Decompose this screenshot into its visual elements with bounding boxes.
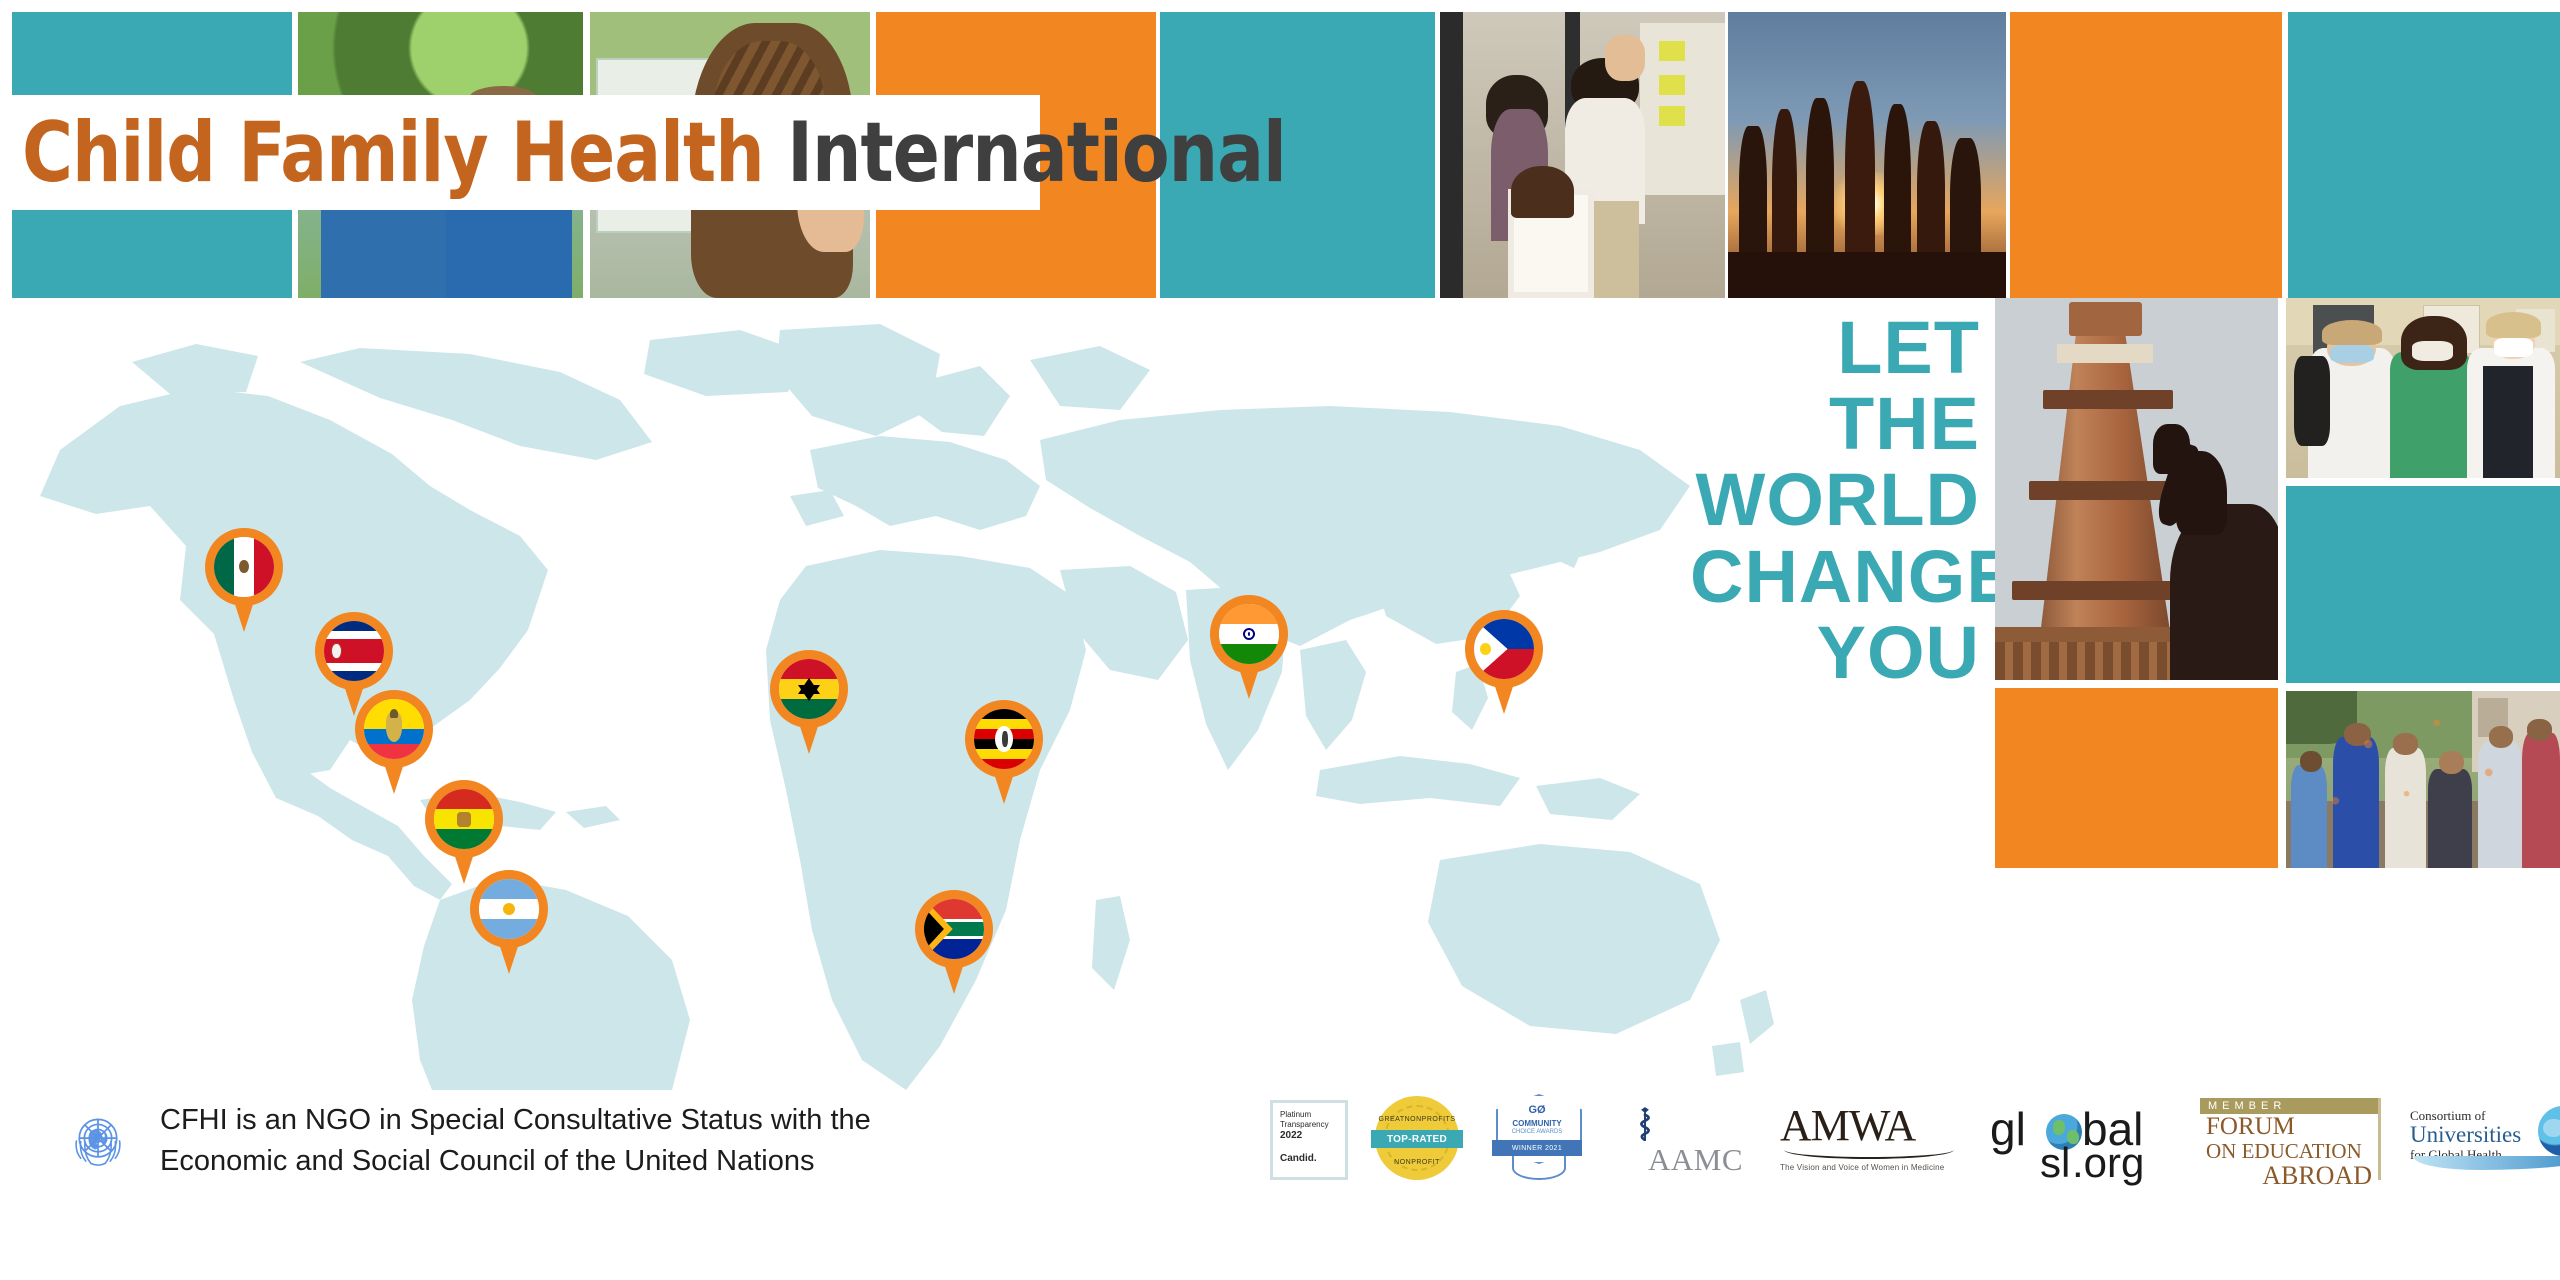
tagline-line-2: THE <box>1690 386 1980 462</box>
amwa-logo[interactable]: AMWA The Vision and Voice of Women in Me… <box>1780 1104 1958 1176</box>
consortium-universities-global-health-logo[interactable]: Consortium of Universities for Global He… <box>2410 1104 2560 1176</box>
photo-group-celebration-petals <box>2286 691 2560 868</box>
costa-rica-flag-icon <box>324 621 384 681</box>
tagline: LET THE WORLD CHANGE YOU <box>1690 310 1980 691</box>
map-pin-south-africa[interactable] <box>915 890 993 994</box>
globalsl-org-logo[interactable]: gl bal sl .org <box>1990 1100 2150 1182</box>
greatnonprofits-ribbon: TOP-RATED <box>1371 1130 1463 1148</box>
footer: CFHI is an NGO in Special Consultative S… <box>0 1090 2560 1280</box>
map-pin-india[interactable] <box>1210 595 1288 699</box>
forum-member-band: MEMBER <box>2200 1098 2378 1114</box>
aamc-logo[interactable]: AAMC <box>1618 1098 1746 1178</box>
header-photo-classroom-lecture <box>1440 12 1725 298</box>
candid-line-4: Candid. <box>1280 1153 1339 1166</box>
south-africa-flag-icon <box>924 899 984 959</box>
map-pin-argentina[interactable] <box>470 870 548 974</box>
map-pin-bolivia[interactable] <box>425 780 503 884</box>
ghana-flag-icon <box>779 659 839 719</box>
go-line-1: COMMUNITY <box>1512 1119 1561 1128</box>
right-orange-block <box>1995 688 2278 868</box>
un-status-line-2: Economic and Social Council of the Unite… <box>160 1141 871 1182</box>
candid-line-3: 2022 <box>1280 1130 1339 1143</box>
header-photo-strip: Child Family Health International <box>0 0 2560 298</box>
header-photo-sunset-hands <box>1728 12 2006 298</box>
map-pin-mexico[interactable] <box>205 528 283 632</box>
cugh-globe-icon <box>2538 1106 2560 1156</box>
aamc-text: AAMC <box>1648 1142 1743 1178</box>
bolivia-flag-icon <box>434 789 494 849</box>
india-flag-icon <box>1219 604 1279 664</box>
photo-qutb-minar-reaching-hand <box>1995 298 2278 680</box>
greatnonprofits-ring-bottom: NONPROFIT <box>1394 1159 1440 1166</box>
go-line-2: CHOICE AWARDS <box>1512 1129 1563 1135</box>
candid-line-1: Platinum <box>1280 1110 1339 1120</box>
philippines-flag-icon <box>1474 619 1534 679</box>
amwa-text: AMWA <box>1780 1104 1958 1148</box>
mexico-flag-icon <box>214 537 274 597</box>
globalsl-part-c: sl <box>2040 1142 2070 1184</box>
tagline-line-4: CHANGE <box>1690 539 1980 615</box>
map-pin-philippines[interactable] <box>1465 610 1543 714</box>
logo-secondary-text: International <box>787 104 1286 201</box>
forum-line-1: FORUM <box>2206 1114 2378 1140</box>
map-pin-ghana[interactable] <box>770 650 848 754</box>
header-orange-block-2 <box>2010 12 2282 298</box>
candid-line-2: Transparency <box>1280 1120 1339 1130</box>
map-pin-uganda[interactable] <box>965 700 1043 804</box>
logo-wordmark: Child Family Health International <box>22 111 1286 194</box>
logo-plate: Child Family Health International <box>0 95 1040 210</box>
uganda-flag-icon <box>974 709 1034 769</box>
forum-on-education-abroad-logo[interactable]: MEMBER FORUM ON EDUCATION ABROAD <box>2200 1098 2381 1180</box>
go-mark: GØ <box>1528 1104 1545 1116</box>
ecuador-flag-icon <box>364 699 424 759</box>
globalsl-part-a: gl <box>1990 1106 2026 1152</box>
banner-root: Child Family Health International <box>0 0 2560 1280</box>
go-community-choice-awards-badge[interactable]: GØ COMMUNITY CHOICE AWARDS WINNER 2021 <box>1492 1094 1582 1186</box>
un-status-text: CFHI is an NGO in Special Consultative S… <box>160 1100 871 1182</box>
cugh-line-2: Universities <box>2410 1123 2521 1146</box>
map-pin-ecuador[interactable] <box>355 690 433 794</box>
greatnonprofits-ring-top: GREATNONPROFITS <box>1379 1116 1456 1123</box>
right-teal-block <box>2286 486 2560 683</box>
go-ribbon: WINNER 2021 <box>1492 1140 1582 1156</box>
tagline-line-1: LET <box>1690 310 1980 386</box>
header-teal-block-3 <box>2288 12 2560 298</box>
forum-line-2: ON EDUCATION <box>2206 1140 2378 1162</box>
accreditation-badges: Platinum Transparency 2022 Candid. GREAT… <box>1270 1090 2550 1195</box>
forum-line-3: ABROAD <box>2200 1162 2372 1189</box>
right-photo-grid <box>1995 298 2560 1088</box>
un-status-row: CFHI is an NGO in Special Consultative S… <box>62 1100 871 1182</box>
candid-platinum-transparency-badge[interactable]: Platinum Transparency 2022 Candid. <box>1270 1100 1348 1180</box>
tagline-line-3: WORLD <box>1690 462 1980 538</box>
united-nations-emblem <box>62 1105 134 1177</box>
un-status-line-1: CFHI is an NGO in Special Consultative S… <box>160 1100 871 1141</box>
greatnonprofits-top-rated-badge[interactable]: GREATNONPROFITS TOP-RATED NONPROFIT <box>1375 1096 1459 1180</box>
argentina-flag-icon <box>479 879 539 939</box>
tagline-line-5: YOU <box>1690 615 1980 691</box>
photo-masked-medical-students <box>2286 298 2560 478</box>
logo-primary-text: Child Family Health <box>22 104 764 201</box>
amwa-tagline: The Vision and Voice of Women in Medicin… <box>1780 1163 1958 1172</box>
globalsl-part-d: .org <box>2072 1142 2144 1184</box>
